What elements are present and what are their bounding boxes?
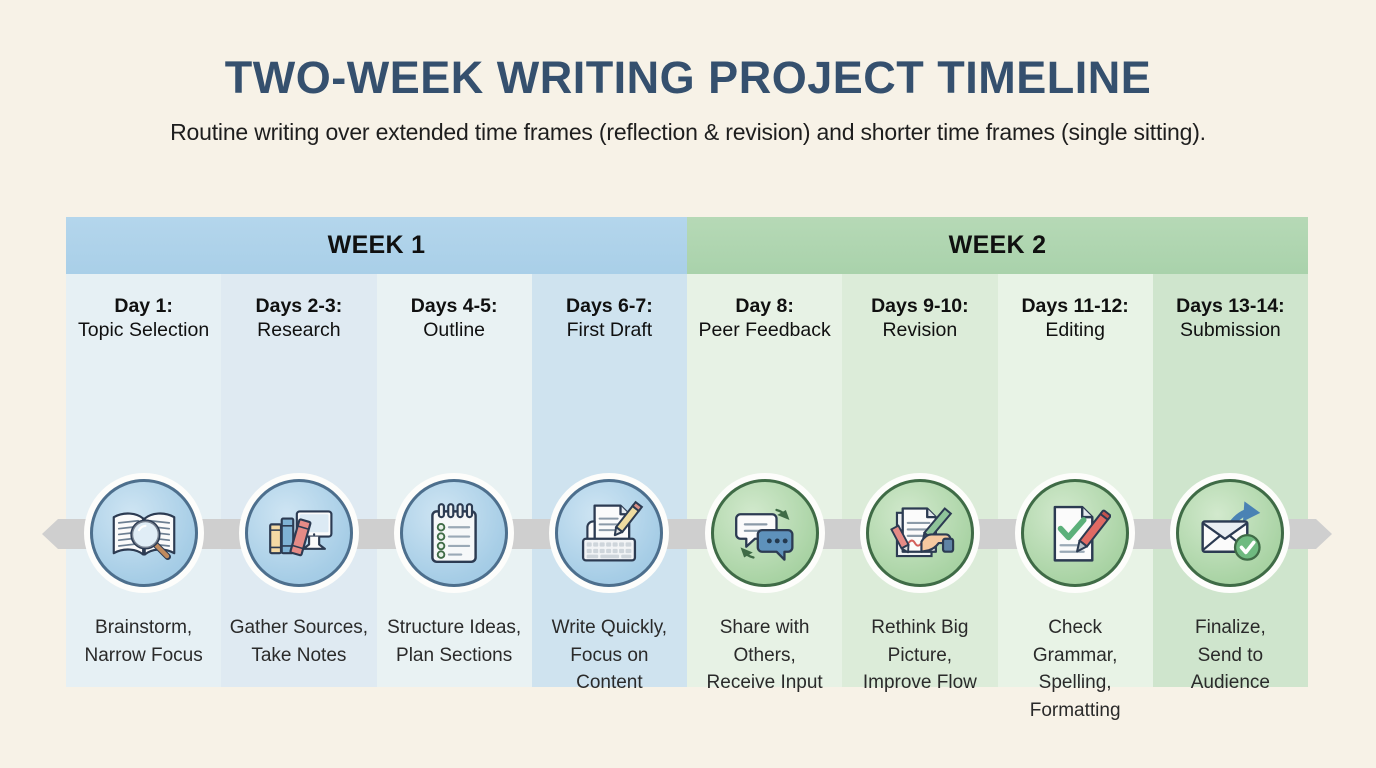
stage-description: Gather Sources,Take Notes xyxy=(221,614,376,669)
stage-columns: Day 1: Topic Selection Brainstorm,Narrow… xyxy=(66,274,1308,687)
stage-description: Structure Ideas,Plan Sections xyxy=(377,614,532,669)
infographic-header: Two-Week Writing Project Timeline Routin… xyxy=(0,0,1376,147)
stage-day: Days 11-12: xyxy=(1001,295,1150,319)
stage-name: Submission xyxy=(1156,319,1305,343)
stage-description: Brainstorm,Narrow Focus xyxy=(66,614,221,669)
stage-label: Days 6-7: First Draft xyxy=(532,295,687,343)
stage-icon-row xyxy=(66,458,1308,608)
stage-day: Days 9-10: xyxy=(845,295,994,319)
stage-circle-editing[interactable] xyxy=(1021,479,1129,587)
stage-name: Research xyxy=(224,319,373,343)
stage-label: Day 1: Topic Selection xyxy=(66,295,221,343)
week-band-1: WEEK 1 xyxy=(66,217,687,274)
stage-day: Day 8: xyxy=(690,295,839,319)
stage-icon-slot xyxy=(66,458,221,608)
page-title: Two-Week Writing Project Timeline xyxy=(0,52,1376,104)
notepad-checklist-icon xyxy=(418,497,490,569)
stage-circle-peer-feedback[interactable] xyxy=(711,479,819,587)
book-magnifier-icon xyxy=(108,497,180,569)
stage-icon-slot xyxy=(687,458,842,608)
stage-description: Share withOthers,Receive Input xyxy=(687,614,842,697)
week-header-row: WEEK 1 WEEK 2 xyxy=(66,217,1308,274)
stage-circle-revision[interactable] xyxy=(866,479,974,587)
stage-name: Topic Selection xyxy=(69,319,218,343)
hand-writing-document-icon xyxy=(884,497,956,569)
week-1-label: WEEK 1 xyxy=(328,231,426,260)
stage-name: Revision xyxy=(845,319,994,343)
timeline-board: WEEK 1 WEEK 2 Day 1: Topic Selection Bra… xyxy=(66,217,1308,687)
envelope-send-check-icon xyxy=(1194,497,1266,569)
week-2-label: WEEK 2 xyxy=(949,231,1047,260)
stage-icon-slot xyxy=(998,458,1153,608)
stage-day: Days 13-14: xyxy=(1156,295,1305,319)
stage-label: Days 11-12: Editing xyxy=(998,295,1153,343)
stage-name: Editing xyxy=(1001,319,1150,343)
stage-description: Check Grammar,Spelling,Formatting xyxy=(998,614,1153,724)
page-subtitle: Routine writing over extended time frame… xyxy=(0,118,1376,147)
stage-label: Day 8: Peer Feedback xyxy=(687,295,842,343)
stage-description: Write Quickly,Focus onContent xyxy=(532,614,687,697)
stage-icon-slot xyxy=(221,458,376,608)
stage-label: Days 13-14: Submission xyxy=(1153,295,1308,343)
stage-circle-outline[interactable] xyxy=(400,479,508,587)
keyboard-document-pencil-icon xyxy=(573,497,645,569)
stage-name: First Draft xyxy=(535,319,684,343)
stage-icon-slot xyxy=(532,458,687,608)
stage-label: Days 9-10: Revision xyxy=(842,295,997,343)
stage-circle-topic-selection[interactable] xyxy=(90,479,198,587)
stage-circle-submission[interactable] xyxy=(1176,479,1284,587)
speech-bubbles-exchange-icon xyxy=(729,497,801,569)
stage-icon-slot xyxy=(377,458,532,608)
stage-name: Peer Feedback xyxy=(690,319,839,343)
stage-description: Finalize,Send toAudience xyxy=(1153,614,1308,697)
stage-label: Days 4-5: Outline xyxy=(377,295,532,343)
stage-day: Days 6-7: xyxy=(535,295,684,319)
stage-name: Outline xyxy=(380,319,529,343)
week-band-2: WEEK 2 xyxy=(687,217,1308,274)
books-monitor-icon xyxy=(263,497,335,569)
document-check-pen-icon xyxy=(1039,497,1111,569)
stage-day: Day 1: xyxy=(69,295,218,319)
stage-circle-first-draft[interactable] xyxy=(555,479,663,587)
stage-circle-research[interactable] xyxy=(245,479,353,587)
stage-description: Rethink BigPicture,Improve Flow xyxy=(842,614,997,697)
stage-icon-slot xyxy=(1153,458,1308,608)
stage-icon-slot xyxy=(842,458,997,608)
stage-day: Days 4-5: xyxy=(380,295,529,319)
stage-label: Days 2-3: Research xyxy=(221,295,376,343)
stage-day: Days 2-3: xyxy=(224,295,373,319)
